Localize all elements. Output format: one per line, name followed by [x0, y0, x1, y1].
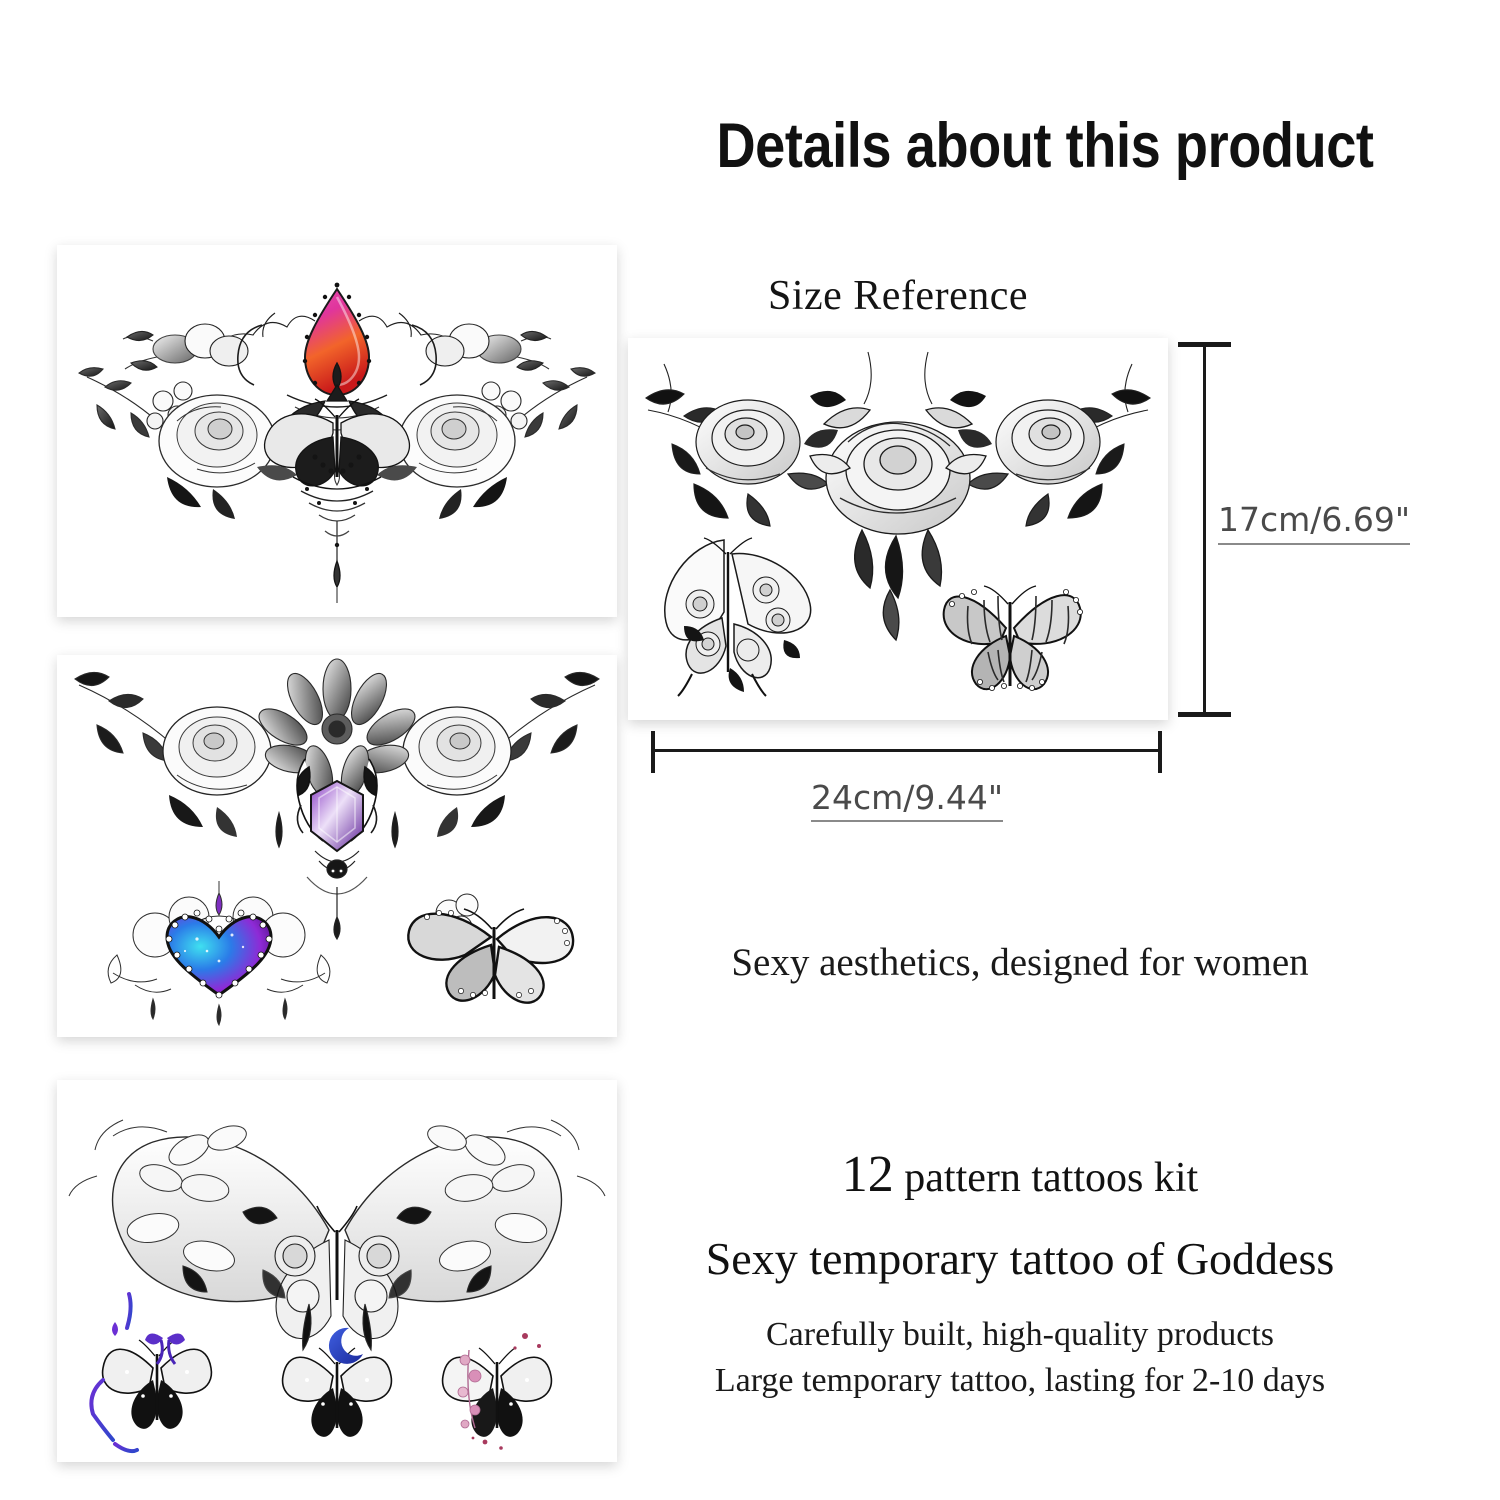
height-dimension-label: 17cm/6.69"	[1218, 500, 1410, 545]
width-dimension-cap-right	[1158, 731, 1162, 773]
feature-bullet-2: Large temporary tattoo, lasting for 2-10…	[640, 1358, 1400, 1404]
height-dimension-cap-bottom	[1178, 712, 1231, 717]
width-dimension-cap-left	[651, 731, 655, 773]
feature-bullet-1: Carefully built, high-quality products	[640, 1312, 1400, 1358]
tattoo-sheet-3	[57, 1080, 617, 1462]
width-dimension-label: 24cm/9.44"	[652, 778, 1162, 817]
page-title: Details about this product	[705, 110, 1384, 182]
size-reference-label: Size Reference	[628, 272, 1168, 320]
product-detail-page: Details about this product	[0, 0, 1500, 1500]
size-reference-sheet	[628, 338, 1168, 720]
feature-bullets: Carefully built, high-quality products L…	[640, 1312, 1400, 1404]
tattoo-sheet-1	[57, 245, 617, 617]
width-dimension-line	[652, 749, 1162, 752]
height-dimension-line	[1203, 344, 1206, 716]
tattoo-sheet-2	[57, 655, 617, 1037]
headline-text: Sexy temporary tattoo of Goddess	[620, 1232, 1420, 1285]
kit-count-label: pattern tattoos kit	[904, 1155, 1198, 1201]
tagline-text: Sexy aesthetics, designed for women	[640, 940, 1400, 985]
kit-count-line: 12 pattern tattoos kit	[640, 1145, 1400, 1204]
width-dimension-value: 24cm/9.44"	[811, 778, 1003, 822]
kit-count-number: 12	[842, 1146, 894, 1203]
